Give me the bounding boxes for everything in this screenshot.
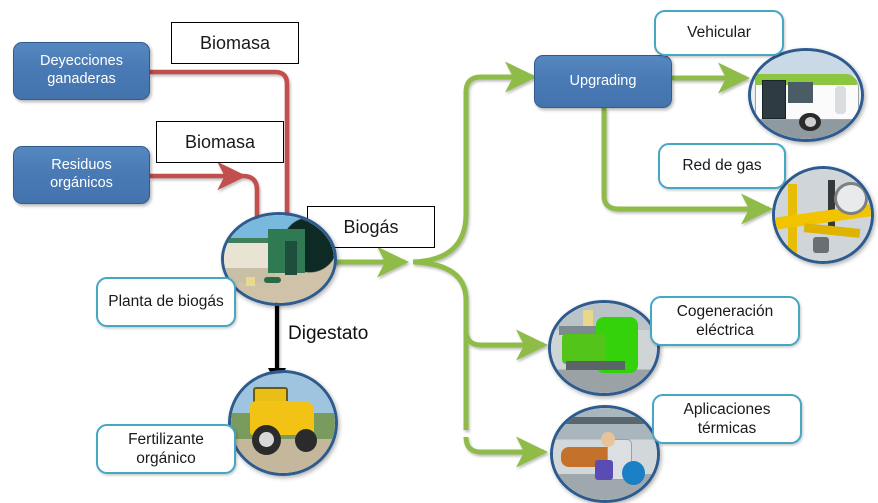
flow-label-biomasa-1: Biomasa xyxy=(171,22,299,64)
callout-red-de-gas[interactable]: Red de gas xyxy=(658,143,786,189)
input-label-residuos: Residuos orgánicos xyxy=(20,157,143,192)
gas-grid-photo xyxy=(772,166,874,264)
input-box-residuos-organicos[interactable]: Residuos orgánicos xyxy=(13,146,150,204)
bus-image xyxy=(751,51,861,139)
fertilizante-organico-label: Fertilizante orgánico xyxy=(105,430,227,469)
callout-planta-de-biogas[interactable]: Planta de biogás xyxy=(96,277,236,327)
tractor-photo xyxy=(228,370,338,476)
aplicaciones-termicas-label: Aplicaciones térmicas xyxy=(661,400,793,439)
biogas-plant-image xyxy=(224,215,334,303)
biomasa-2-text: Biomasa xyxy=(185,132,255,153)
cogeneracion-electrica-label: Cogeneración eléctrica xyxy=(659,302,791,341)
arrow-to-cogeneration xyxy=(466,330,544,345)
vehicular-label: Vehicular xyxy=(687,23,751,42)
arrow-to-thermal xyxy=(466,437,544,452)
input-label-deyecciones: Deyecciones ganaderas xyxy=(20,53,143,88)
callout-fertilizante-organico[interactable]: Fertilizante orgánico xyxy=(96,424,236,474)
tractor-image xyxy=(231,373,335,473)
biomasa-1-text: Biomasa xyxy=(200,33,270,54)
thermal-image xyxy=(553,408,657,500)
green-trunk-down xyxy=(413,262,466,430)
thermal-photo xyxy=(550,405,660,503)
flow-label-digestato: Digestato xyxy=(288,323,368,345)
cogeneration-photo xyxy=(548,300,660,396)
callout-vehicular[interactable]: Vehicular xyxy=(654,10,784,56)
flow-label-biomasa-2: Biomasa xyxy=(156,121,284,163)
process-box-upgrading[interactable]: Upgrading xyxy=(534,55,672,108)
callout-cogeneracion-electrica[interactable]: Cogeneración eléctrica xyxy=(650,296,800,346)
diagram-canvas: Deyecciones ganaderas Residuos orgánicos… xyxy=(0,0,878,500)
input-box-deyecciones-ganaderas[interactable]: Deyecciones ganaderas xyxy=(13,42,150,100)
biogas-plant-photo xyxy=(221,212,337,306)
digestato-text: Digestato xyxy=(288,323,368,344)
gas-grid-image xyxy=(775,169,871,261)
upgrading-label: Upgrading xyxy=(570,73,637,91)
callout-aplicaciones-termicas[interactable]: Aplicaciones térmicas xyxy=(652,394,802,444)
biogas-text: Biogás xyxy=(343,217,398,238)
bus-photo xyxy=(748,48,864,142)
red-de-gas-label: Red de gas xyxy=(682,156,761,175)
cogeneration-image xyxy=(551,303,657,393)
planta-de-biogas-label: Planta de biogás xyxy=(108,292,223,311)
